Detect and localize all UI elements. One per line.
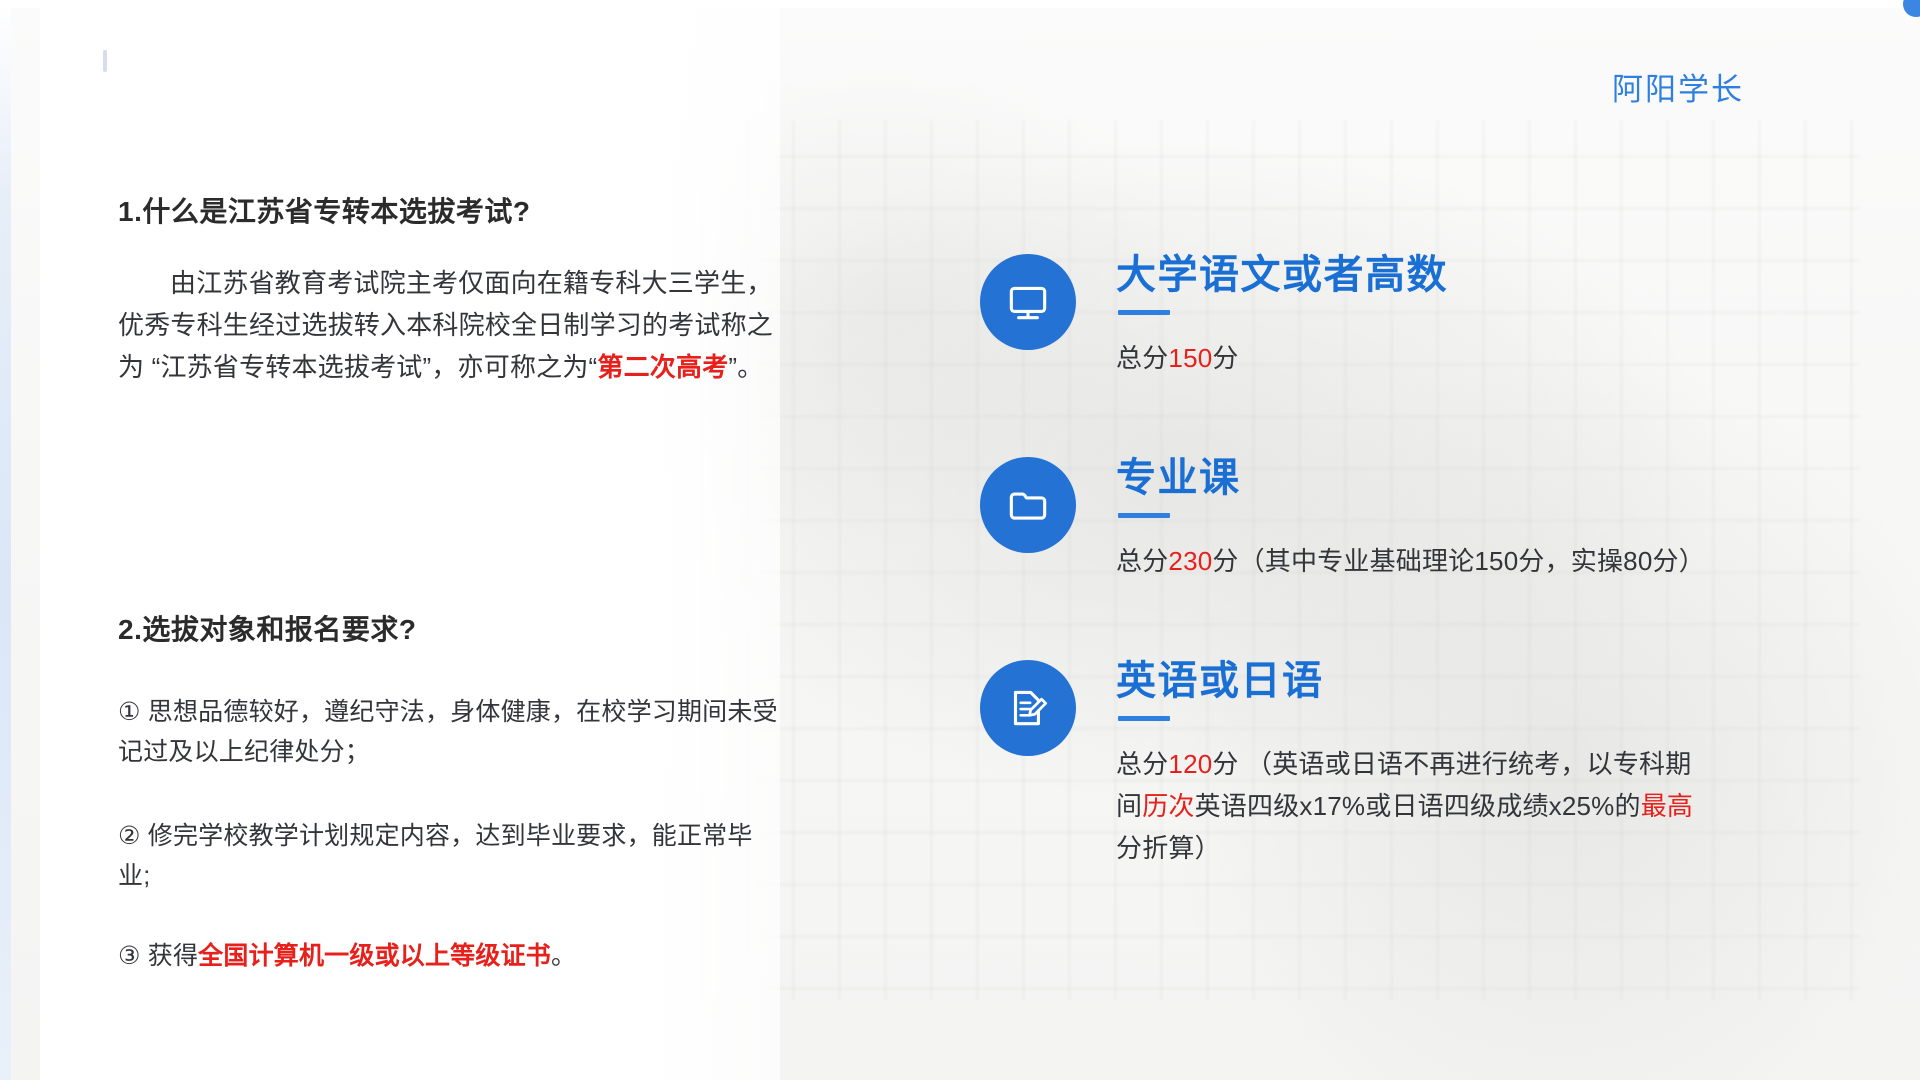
section-2-block: 2.选拔对象和报名要求? ① 思想品德较好，遵纪守法，身体健康，在校学习期间未受… [118,608,778,976]
section-1-paragraph-part2: ”。 [728,352,763,382]
desc-highlight-frequency: 历次 [1142,791,1194,821]
folder-icon [980,457,1076,553]
title-underline-rule [1118,310,1170,315]
desc-score-highlight: 230 [1168,546,1212,576]
subject-card: 英语或日语 总分120分 （英语或日语不再进行统考，以专科期间历次英语四级x17… [980,656,1840,869]
document-edit-icon [980,660,1076,756]
slide-canvas: 阿阳学长 1.什么是江苏省专转本选拔考试? 由江苏省教育考试院主考仅面向在籍专科… [0,0,1920,1080]
list-item-suffix: 。 [551,942,576,970]
subject-card-title: 英语或日语 [1116,658,1840,704]
desc-score-highlight: 150 [1168,343,1212,373]
desc-part-1: 总分 [1116,343,1168,373]
desc-part-3: 英语四级x17%或日语四级成绩x25%的 [1195,791,1641,821]
subject-card-description: 总分150分 [1116,337,1716,379]
subject-card-body: 专业课 总分230分（其中专业基础理论150分，实操80分） [1116,453,1840,582]
desc-highlight-maximum: 最高 [1641,791,1693,821]
window-left-edge [0,0,11,1080]
subject-card-body: 英语或日语 总分120分 （英语或日语不再进行统考，以专科期间历次英语四级x17… [1116,656,1840,869]
subject-card-title: 专业课 [1116,455,1840,501]
monitor-icon [980,254,1076,350]
list-item: ② 修完学校教学计划规定内容，达到毕业要求，能正常毕业; [118,816,778,896]
title-underline-rule [1118,716,1170,721]
subject-card: 专业课 总分230分（其中专业基础理论150分，实操80分） [980,453,1840,582]
subject-card-body: 大学语文或者高数 总分150分 [1116,250,1840,379]
list-item: ① 思想品德较好，遵纪守法，身体健康，在校学习期间未受记过及以上纪律处分； [118,692,778,772]
window-top-edge [0,0,1920,8]
subject-card: 大学语文或者高数 总分150分 [980,250,1840,379]
desc-part-2: 分（其中专业基础理论150分，实操80分） [1212,546,1705,576]
desc-part-1: 总分 [1116,749,1168,779]
scrollbar-nub[interactable] [103,50,107,72]
author-name: 阿阳学长 [1612,64,1744,109]
list-item-text: 修完学校教学计划规定内容，达到毕业要求，能正常毕业; [118,822,753,890]
desc-part-2: 分 [1212,343,1238,373]
desc-part-1: 总分 [1116,546,1168,576]
list-item-text: 思想品德较好，遵纪守法，身体健康，在校学习期间未受记过及以上纪律处分； [118,698,778,766]
section-1-paragraph: 由江苏省教育考试院主考仅面向在籍专科大三学生，优秀专科生经过选拔转入本科院校全日… [118,262,778,388]
left-text-column: 1.什么是江苏省专转本选拔考试? 由江苏省教育考试院主考仅面向在籍专科大三学生，… [118,190,778,388]
subject-card-list: 大学语文或者高数 总分150分 专业课 总分230分（其中专业基础理论150分，… [980,250,1840,869]
subject-card-description: 总分230分（其中专业基础理论150分，实操80分） [1116,540,1716,582]
list-item: ③ 获得全国计算机一级或以上等级证书。 [118,936,778,976]
section-1-paragraph-highlight: 第二次高考 [597,352,728,382]
list-item-prefix: 获得 [141,942,199,970]
section-1-heading: 1.什么是江苏省专转本选拔考试? [118,190,778,230]
desc-score-highlight: 120 [1168,749,1212,779]
section-2-heading: 2.选拔对象和报名要求? [118,608,778,648]
list-item-marker: ① [118,698,141,726]
list-item-marker: ③ [118,942,141,970]
subject-card-title: 大学语文或者高数 [1116,252,1840,298]
desc-part-4: 分折算） [1116,833,1221,863]
subject-card-description: 总分120分 （英语或日语不再进行统考，以专科期间历次英语四级x17%或日语四级… [1116,743,1716,869]
title-underline-rule [1118,513,1170,518]
list-item-marker: ② [118,822,141,850]
list-item-highlight: 全国计算机一级或以上等级证书 [198,942,551,970]
